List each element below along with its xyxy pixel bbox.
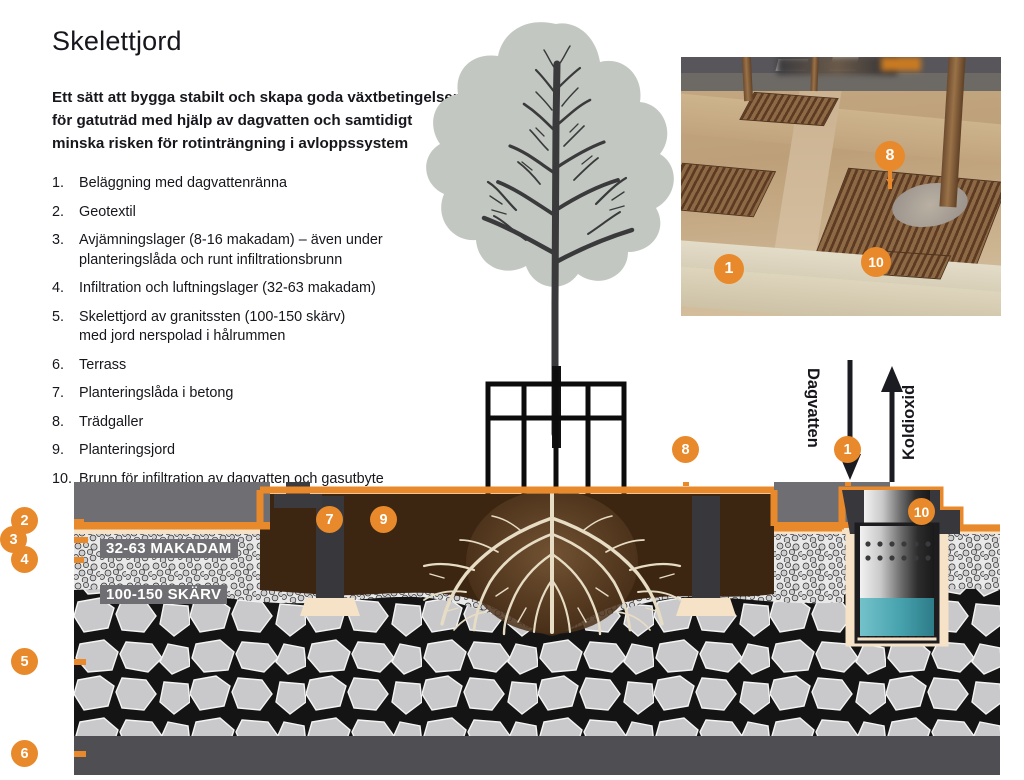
gutter-drain-left [274,482,322,508]
flow-label-dagvatten: Dagvatten [803,368,822,448]
legend-item-number: 7. [52,384,79,404]
legend-item-line-1: Geotextil [79,204,136,220]
legend-item-number: 8. [52,413,79,433]
layer-terrace [74,734,1000,775]
label-makadam-32-63: 32-63 MAKADAM [100,539,238,558]
diagram-marker-1: 1 [834,436,861,463]
legend-item-number: 9. [52,441,79,461]
paving-left [74,482,270,524]
legend-item-line-1: Skelettjord av granitssten (100-150 skär… [79,309,345,325]
street-photograph: 8 1 10 [681,57,1001,316]
legend-item-line-1: Terrass [79,357,126,373]
label-skarv-100-150: 100-150 SKÄRV [100,585,227,604]
legend-item-number: 6. [52,356,79,376]
infiltration-well [842,490,960,644]
legend-item-line-1: Trädgaller [79,414,143,430]
legend-item-line-1: Planteringsjord [79,442,175,458]
page-title: Skelettjord [52,26,182,57]
photo-marker-10: 10 [861,247,891,277]
legend-item-number: 3. [52,231,79,270]
legend-item-line-1: Infiltration och luftningslager (32-63 m… [79,280,376,296]
legend-item-number: 1. [52,174,79,194]
tree-illustration [406,4,706,504]
photo-marker-8: 8 [875,141,905,171]
legend-item-number: 5. [52,308,79,347]
legend-item-line-1: Avjämningslager (8-16 makadam) – även un… [79,232,383,248]
legend-item-number: 2. [52,203,79,223]
legend-item-line-1: Beläggning med dagvattenränna [79,175,287,191]
cross-section-diagram: 32-63 MAKADAM 100-150 SKÄRV 2 3 4 5 6 7 … [74,482,1000,775]
diagram-marker-8: 8 [672,436,699,463]
photo-marker-1: 1 [714,254,744,284]
legend-item-line-1: Planteringslåda i betong [79,385,233,401]
well-water [860,598,934,636]
legend-item-number: 4. [52,279,79,299]
diagram-marker-7: 7 [316,506,343,533]
diagram-marker-6: 6 [11,740,38,767]
diagram-marker-5: 5 [11,648,38,675]
diagram-marker-4: 4 [11,546,38,573]
flow-label-koldioxid: Koldioxid [900,385,919,460]
diagram-marker-10: 10 [908,498,935,525]
diagram-marker-9: 9 [370,506,397,533]
